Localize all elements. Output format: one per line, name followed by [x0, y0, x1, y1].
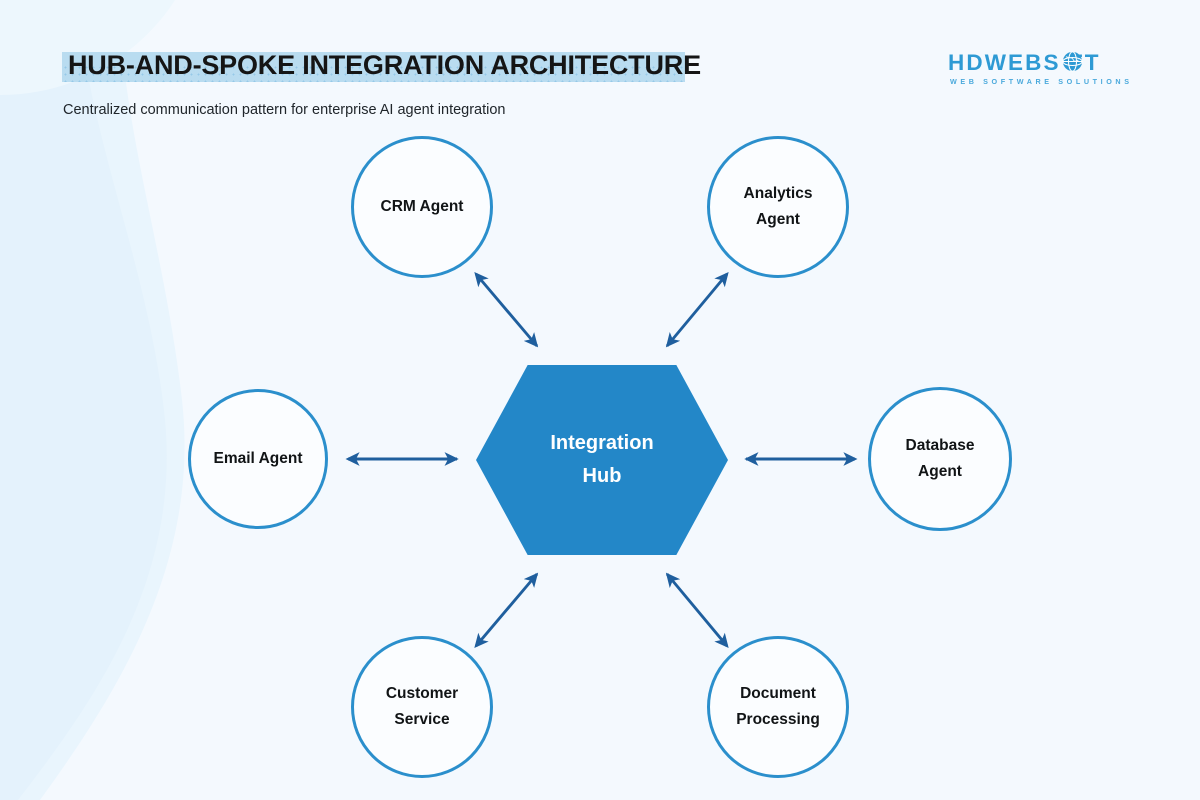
integration-hub-node[interactable]: Integration Hub: [476, 365, 728, 555]
node-crm-agent[interactable]: CRM Agent: [351, 136, 493, 278]
arrow-analytics-agent: [667, 274, 727, 346]
node-email-agent-label: Email Agent: [206, 446, 311, 472]
node-crm-agent-label: CRM Agent: [373, 194, 472, 220]
node-database-agent[interactable]: Database Agent: [868, 387, 1012, 531]
node-customer-service-label: Customer Service: [378, 681, 466, 732]
node-analytics-agent-label: Analytics Agent: [736, 181, 821, 232]
node-email-agent[interactable]: Email Agent: [188, 389, 328, 529]
node-database-agent-label: Database Agent: [898, 433, 983, 484]
arrow-document-processing: [667, 574, 727, 646]
arrow-customer-service: [476, 574, 537, 646]
node-document-processing[interactable]: Document Processing: [707, 636, 849, 778]
arrow-crm-agent: [476, 274, 537, 346]
node-customer-service[interactable]: Customer Service: [351, 636, 493, 778]
node-analytics-agent[interactable]: Analytics Agent: [707, 136, 849, 278]
integration-hub-label: Integration Hub: [550, 427, 653, 493]
diagram-canvas: HUB-AND-SPOKE INTEGRATION ARCHITECTURE C…: [0, 0, 1200, 800]
node-document-processing-label: Document Processing: [728, 681, 828, 732]
